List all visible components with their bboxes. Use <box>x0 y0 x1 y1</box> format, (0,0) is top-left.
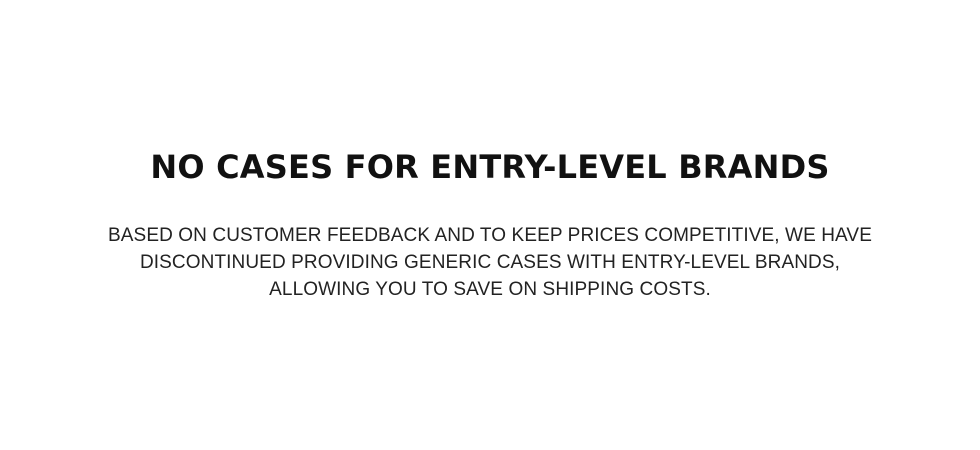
banner-content: NO CASES FOR ENTRY-LEVEL BRANDS BASED ON… <box>90 150 890 303</box>
banner-description: BASED ON CUSTOMER FEEDBACK AND TO KEEP P… <box>90 184 890 303</box>
page-title: NO CASES FOR ENTRY-LEVEL BRANDS <box>90 150 890 184</box>
promo-banner: NO CASES FOR ENTRY-LEVEL BRANDS BASED ON… <box>0 0 980 450</box>
